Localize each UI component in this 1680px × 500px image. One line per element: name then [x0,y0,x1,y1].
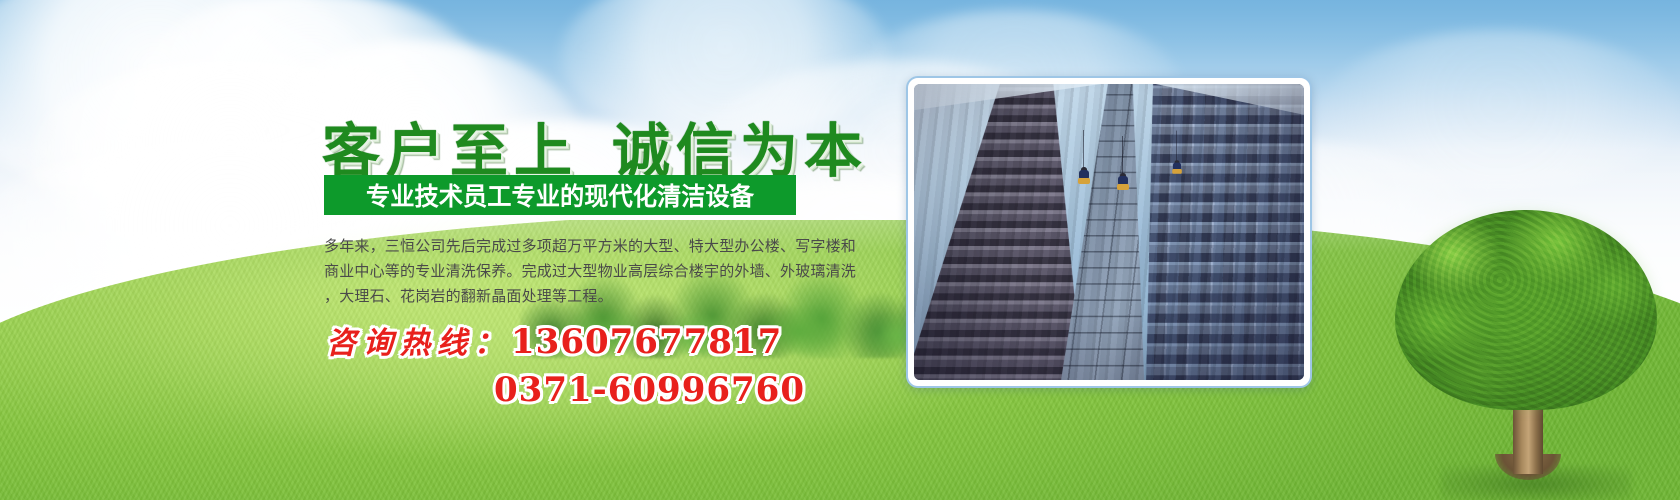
hotline-landline-number[interactable]: 0371-60996760 [494,370,805,410]
tree-icon [1395,210,1657,490]
description-paragraph: 多年来，三恒公司先后完成过多项超万平方米的大型、特大型办公楼、写字楼和 商业中心… [324,234,902,309]
building-photo [914,84,1304,380]
photo-vignette [914,84,1304,380]
hotline-primary-row: 咨询热线： 13607677817 [326,318,756,362]
promo-banner: 客户至上诚信为本 专业技术员工专业的现代化清洁设备 多年来，三恒公司先后完成过多… [0,0,1680,500]
description-line: ，大理石、花岗岩的翻新晶面处理等工程。 [324,284,902,309]
description-line: 多年来，三恒公司先后完成过多项超万平方米的大型、特大型办公楼、写字楼和 [324,234,902,259]
hotline-secondary-row: 0371-60996760 [326,370,756,410]
subtitle-bar: 专业技术员工专业的现代化清洁设备 [324,175,796,215]
subtitle-text: 专业技术员工专业的现代化清洁设备 [366,177,754,213]
hotline-label: 咨询热线： [326,318,511,362]
building-photo-frame[interactable] [906,76,1312,388]
hotline-block: 咨询热线： 13607677817 0371-60996760 [326,318,756,410]
description-line: 商业中心等的专业清洗保养。完成过大型物业高层综合楼宇的外墙、外玻璃清洗 [324,259,902,284]
hotline-mobile-number[interactable]: 13607677817 [511,322,782,362]
